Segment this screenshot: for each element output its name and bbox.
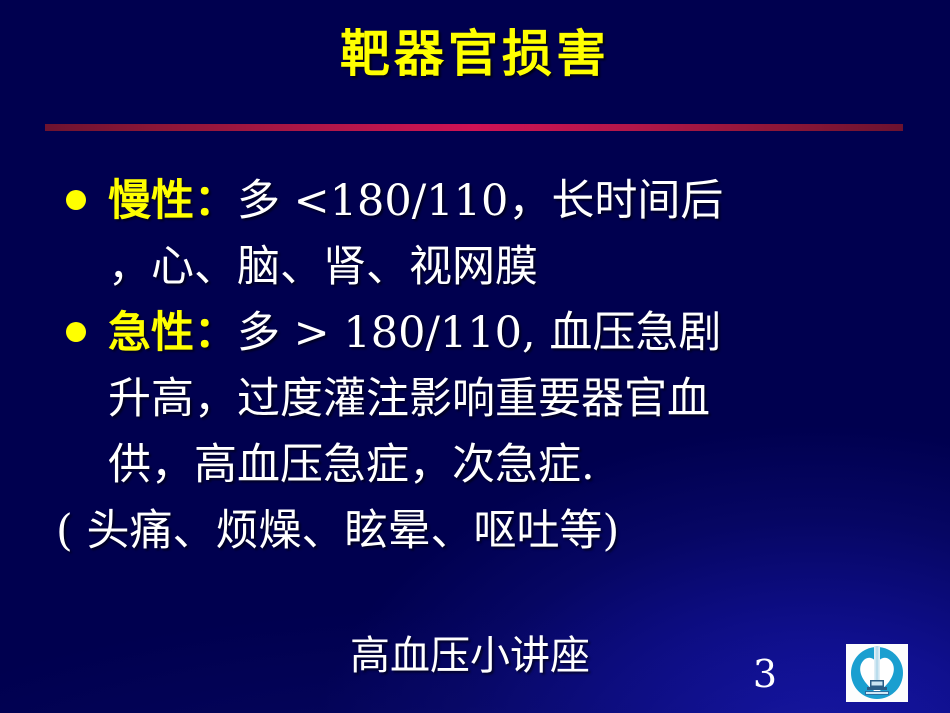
bullet-continuation-text: ，心、脑、肾、视网膜 <box>108 242 538 292</box>
footer-lecture-title: 高血压小讲座 <box>320 630 620 682</box>
bullet-item-acute: 急性：多 > 180/110, 血压急剧 <box>0 300 950 366</box>
bullet-continuation-acute-1: 升高，过度灌注影响重要器官血 <box>0 366 950 432</box>
bullet-lead-chronic: 慢性： <box>108 176 237 226</box>
title-divider-rule <box>45 124 903 131</box>
bullet-text-chronic: 多 <180/110，长时间后 <box>237 176 723 226</box>
bullet-text-acute: 多 > 180/110, 血压急剧 <box>237 308 721 358</box>
bullet-dot-icon <box>66 190 86 210</box>
bullet-lead-acute: 急性： <box>108 308 237 358</box>
slide-page-number: 3 <box>735 652 795 696</box>
symptoms-parenthetical-line: ( 头痛、烦燥、眩晕、呕吐等) <box>0 498 950 564</box>
bullet-continuation-acute-2: 供，高血压急症，次急症. <box>0 432 950 498</box>
slide-title: 靶器官损害 <box>0 24 950 84</box>
bullet-dot-icon <box>66 322 86 342</box>
bullet-continuation-text: 升高，过度灌注影响重要器官血 <box>108 374 710 424</box>
bullet-continuation-chronic-1: ，心、脑、肾、视网膜 <box>0 234 950 300</box>
slide-body: 慢性：多 <180/110，长时间后 ，心、脑、肾、视网膜 急性：多 > 180… <box>0 168 950 564</box>
hypertension-day-logo-icon <box>846 644 908 702</box>
bullet-continuation-text: 供，高血压急症，次急症. <box>108 440 595 490</box>
bullet-item-chronic: 慢性：多 <180/110，长时间后 <box>0 168 950 234</box>
presentation-slide: 靶器官损害 慢性：多 <180/110，长时间后 ，心、脑、肾、视网膜 急性：多… <box>0 0 950 713</box>
